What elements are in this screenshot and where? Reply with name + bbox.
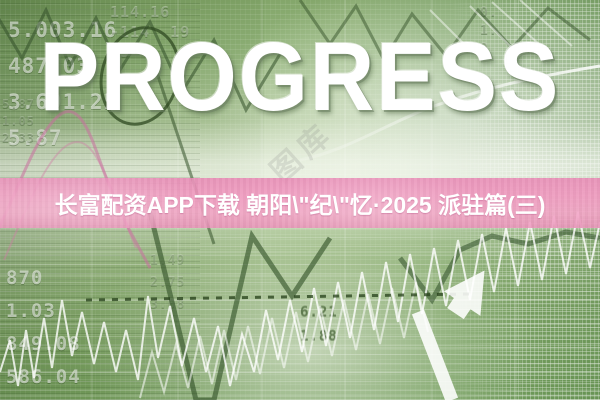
hero-word-progress: PROGRESS: [24, 28, 576, 125]
poster-canvas: 5.003.16 487.03 3.691.25 5.87 870 1.03 8…: [0, 0, 600, 400]
headline-banner: 长富配资APP下载 朝阳\"纪\"忆·2025 派驻篇(三): [0, 178, 600, 228]
headline-title: 长富配资APP下载 朝阳\"纪\"忆·2025 派驻篇(三): [0, 178, 600, 228]
chart-up-arrow-shaft: [418, 312, 452, 400]
chart-horizontal-grid: [0, 252, 600, 396]
